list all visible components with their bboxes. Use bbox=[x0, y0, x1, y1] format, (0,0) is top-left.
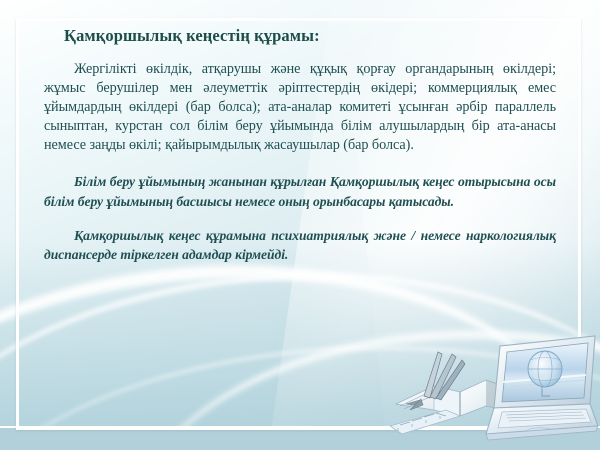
laptop-icon bbox=[486, 336, 598, 440]
slide-content: Қамқоршылық кеңестің құрамы: Жергілікті … bbox=[44, 26, 556, 265]
body-paragraph-meeting-attendance: Білім беру ұйымының жанынан құрылған Қам… bbox=[44, 172, 556, 211]
body-paragraph-composition: Жергілікті өкілдік, атқарушы және құқық … bbox=[44, 60, 556, 154]
slide-canvas: Қамқоршылық кеңестің құрамы: Жергілікті … bbox=[0, 0, 600, 450]
body-paragraph-exclusion-rule: Қамқоршылық кеңес құрамына психиатриялық… bbox=[44, 226, 556, 265]
keyboard-strip-icon bbox=[390, 410, 460, 434]
slide-title: Қамқоршылық кеңестің құрамы: bbox=[64, 26, 556, 46]
laptop-book-quill-illustration bbox=[390, 330, 600, 450]
